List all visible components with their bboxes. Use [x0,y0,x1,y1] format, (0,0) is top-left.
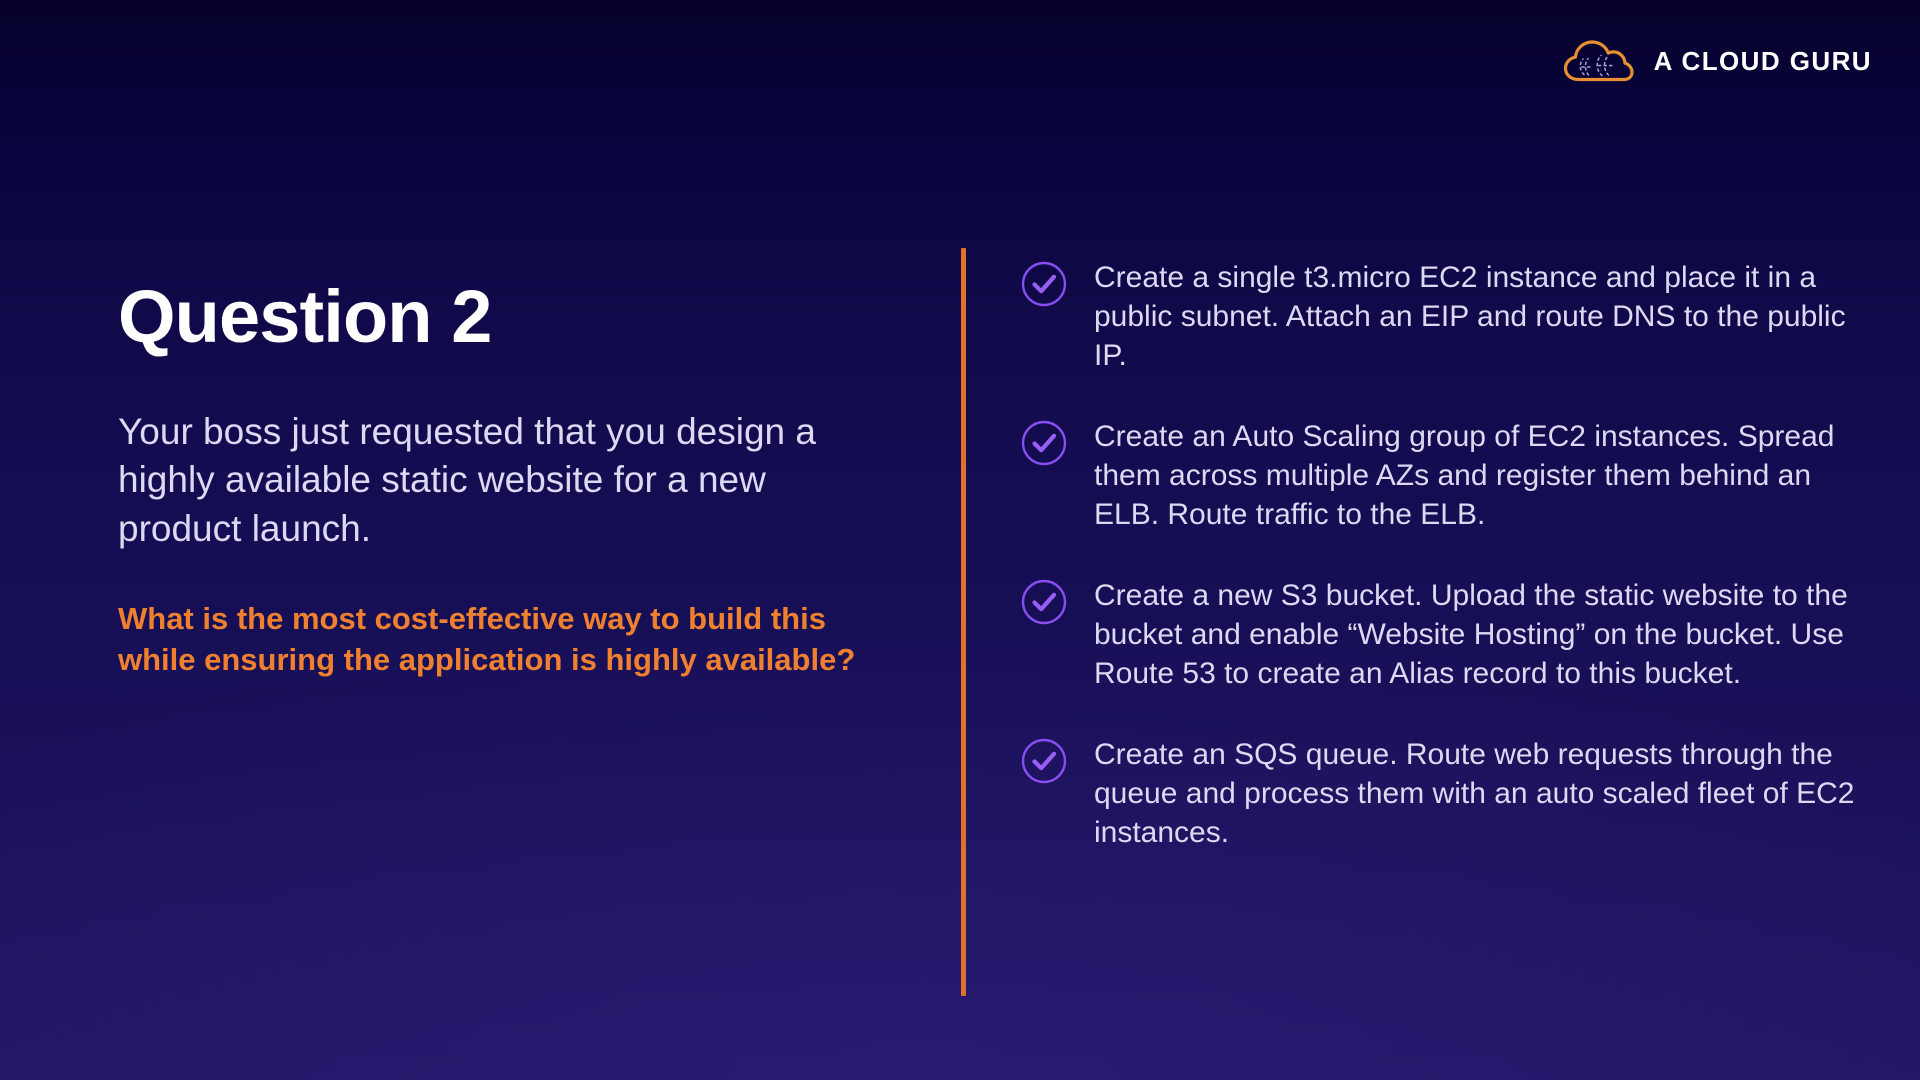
answer-option[interactable]: Create an Auto Scaling group of EC2 inst… [1020,417,1860,534]
brand-name: A CLOUD GURU [1654,46,1872,77]
slide-content: Question 2 Your boss just requested that… [0,0,1920,1080]
check-circle-icon [1020,735,1068,785]
brand-logo: A CLOUD GURU [1562,38,1872,84]
cloud-outline-icon [1562,38,1636,84]
answer-text: Create a single t3.micro EC2 instance an… [1094,258,1860,375]
answer-list: Create a single t3.micro EC2 instance an… [1020,258,1860,852]
answer-text: Create an SQS queue. Route web requests … [1094,735,1860,852]
answers-panel: Create a single t3.micro EC2 instance an… [1020,258,1860,852]
answer-text: Create a new S3 bucket. Upload the stati… [1094,576,1860,693]
question-body: Your boss just requested that you design… [118,408,898,553]
check-circle-icon [1020,576,1068,626]
check-circle-icon [1020,258,1068,308]
page-title: Question 2 [118,280,908,354]
question-panel: Question 2 Your boss just requested that… [118,280,908,680]
answer-option[interactable]: Create an SQS queue. Route web requests … [1020,735,1860,852]
answer-option[interactable]: Create a single t3.micro EC2 instance an… [1020,258,1860,375]
slide-canvas: A CLOUD GURU Question 2 Your boss just r… [0,0,1920,1080]
question-emphasis: What is the most cost-effective way to b… [118,599,858,680]
vertical-divider [961,248,966,996]
answer-text: Create an Auto Scaling group of EC2 inst… [1094,417,1860,534]
answer-option[interactable]: Create a new S3 bucket. Upload the stati… [1020,576,1860,693]
check-circle-icon [1020,417,1068,467]
